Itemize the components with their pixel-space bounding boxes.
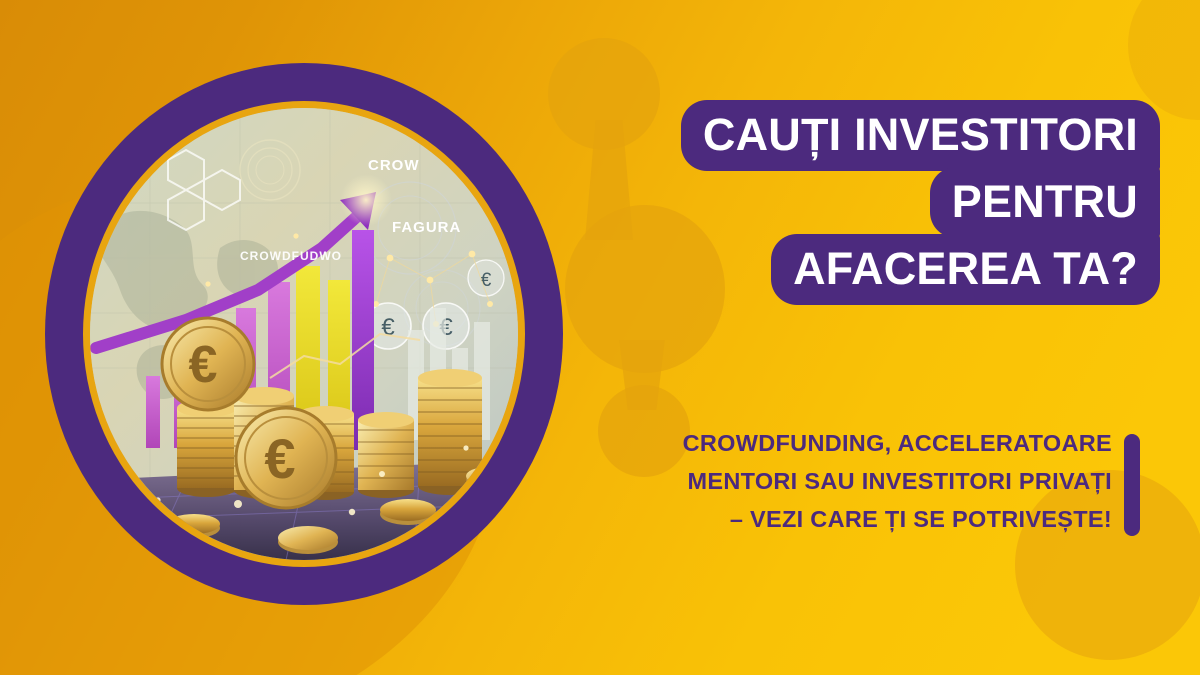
- subtitle-line-2: MENTORI SAU INVESTITORI PRIVAȚI: [600, 462, 1112, 500]
- headline-line-3: AFACEREA TA?: [600, 234, 1160, 305]
- hero-image-gold-ring: € € €: [83, 101, 525, 567]
- subtitle: CROWDFUNDING, ACCELERATOARE MENTORI SAU …: [600, 424, 1112, 538]
- image-label-fagura: FAGURA: [392, 219, 461, 236]
- headline: CAUȚI INVESTITORI PENTRU AFACEREA TA?: [600, 100, 1160, 301]
- subtitle-line-1: CROWDFUNDING, ACCELERATOARE: [600, 424, 1112, 462]
- headline-line-1-text: CAUȚI INVESTITORI: [681, 100, 1160, 171]
- svg-text:€: €: [481, 270, 492, 291]
- growth-chart-illustration: € € €: [90, 108, 518, 560]
- headline-line-1: CAUȚI INVESTITORI: [600, 100, 1160, 171]
- svg-text:€: €: [264, 427, 295, 490]
- hero-image: € € €: [90, 108, 518, 560]
- headline-line-2: PENTRU: [600, 167, 1160, 238]
- subtitle-line-3: – VEZI CARE ȚI SE POTRIVEȘTE!: [600, 500, 1112, 538]
- hero-image-ring: € € €: [45, 63, 563, 605]
- subtitle-accent-bar: [1124, 434, 1140, 536]
- svg-text:€: €: [189, 336, 218, 394]
- headline-line-2-text: PENTRU: [930, 167, 1160, 238]
- image-label-crow: CROW: [368, 157, 420, 174]
- image-label-crowdfunding: CROWDFUDWO: [240, 249, 342, 263]
- headline-line-3-text: AFACEREA TA?: [771, 234, 1160, 305]
